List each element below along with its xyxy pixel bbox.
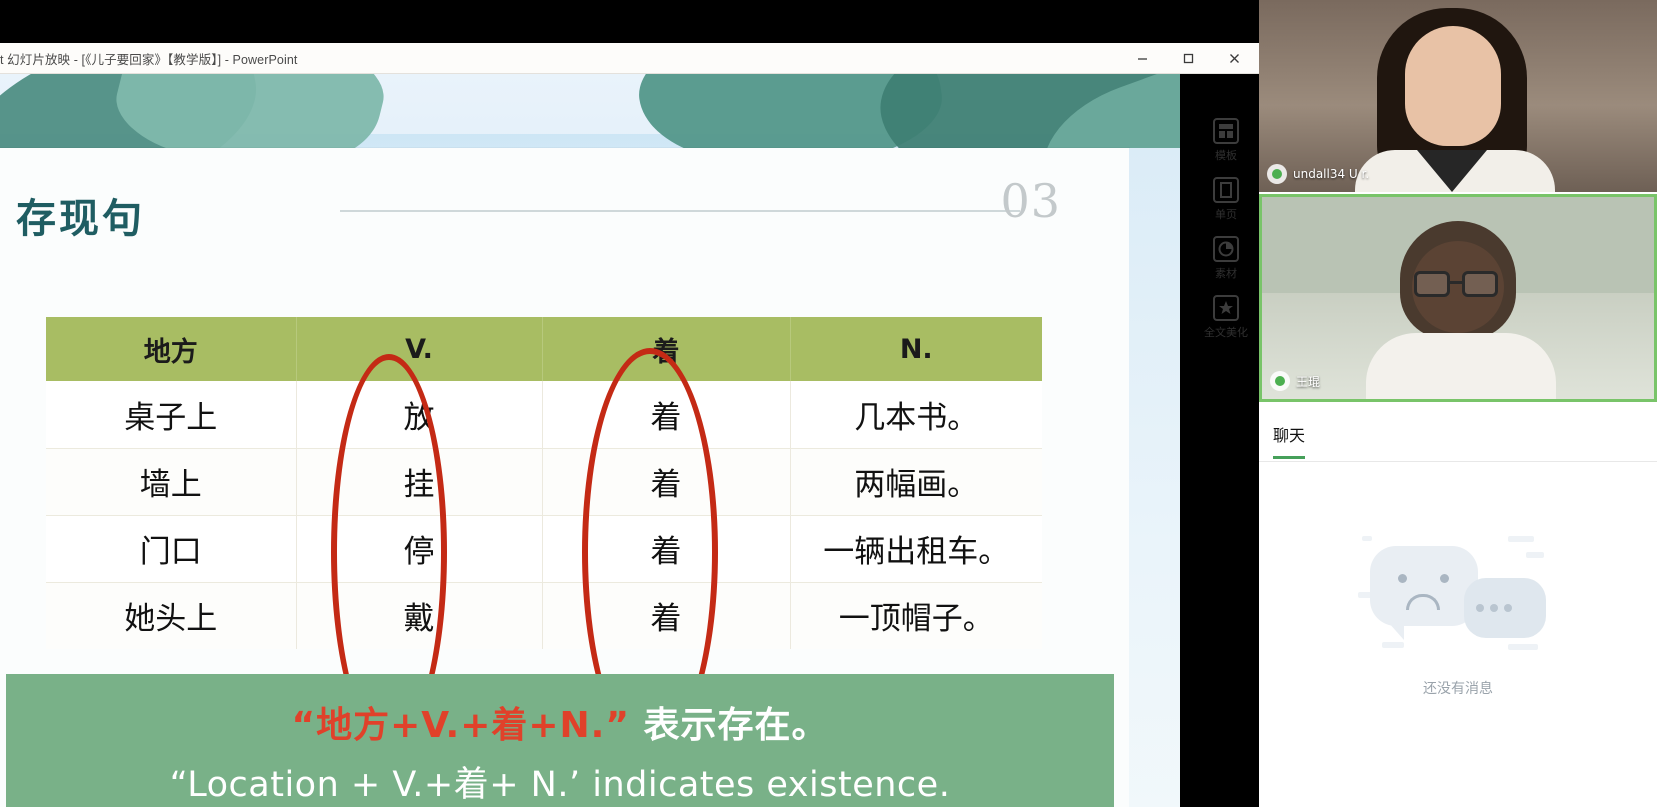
video-tile-teacher[interactable]: undall34 U r.: [1259, 0, 1657, 192]
summary-banner: “地方+V.+着+N.” 表示存在。 “Location + V.+着+ N.’…: [6, 674, 1114, 807]
meeting-sidebar: 模板 单页 素材 全文美化: [1259, 0, 1657, 807]
banner-line-chinese: “地方+V.+着+N.” 表示存在。: [291, 696, 828, 748]
table-cell: 一顶帽子。: [790, 582, 1042, 649]
powerpoint-window: t 幻灯片放映 - [《儿子要回家》【教学版】] - PowerPoint: [0, 0, 1259, 807]
table-row: 墙上 挂 着 两幅画。: [46, 448, 1042, 515]
table-cell: 两幅画。: [790, 448, 1042, 515]
tool-item-single-page[interactable]: 单页: [1200, 177, 1252, 222]
chat-empty-state: 还没有消息: [1259, 530, 1657, 698]
tab-chat[interactable]: 聊天: [1273, 422, 1305, 459]
slide-title: 存现句: [16, 186, 145, 244]
tool-item-beautify[interactable]: 全文美化: [1200, 295, 1252, 340]
window-title: t 幻灯片放映 - [《儿子要回家》【教学版】] - PowerPoint: [0, 49, 297, 68]
empty-chat-illustration-icon: [1358, 530, 1558, 660]
avatar-face: [1405, 26, 1501, 146]
beautify-icon: [1213, 295, 1239, 321]
avatar-glasses-bridge: [1450, 281, 1462, 284]
window-controls: [1119, 43, 1257, 74]
minimize-button[interactable]: [1119, 43, 1165, 73]
banner-explanation-white: 表示存在。: [630, 705, 829, 746]
avatar-glasses-left: [1414, 271, 1450, 297]
template-icon: [1213, 118, 1239, 144]
title-rule-divider: [340, 210, 1020, 212]
material-icon: [1213, 236, 1239, 262]
table-header-cell: V.: [296, 317, 542, 381]
participant-name: 王琨: [1296, 373, 1320, 390]
table-cell: 停: [296, 515, 542, 582]
tool-label: 素材: [1215, 265, 1237, 281]
slide-content-card: 存现句 03 地方 V. 着 N. 桌子: [0, 148, 1129, 807]
table-cell: 着: [542, 381, 790, 448]
chat-panel: 聊天: [1259, 410, 1657, 807]
table-cell: 几本书。: [790, 381, 1042, 448]
table-row: 她头上 戴 着 一顶帽子。: [46, 582, 1042, 649]
table-cell: 一辆出租车。: [790, 515, 1042, 582]
table-cell: 着: [542, 582, 790, 649]
chat-divider: [1259, 461, 1657, 462]
single-page-icon: [1213, 177, 1239, 203]
slide-section-number: 03: [1000, 174, 1061, 228]
maximize-button[interactable]: [1165, 43, 1211, 73]
table-header-cell: N.: [790, 317, 1042, 381]
tool-label: 单页: [1215, 206, 1237, 222]
table-row: 门口 停 着 一辆出租车。: [46, 515, 1042, 582]
table-header-cell: 地方: [46, 317, 296, 381]
table-cell: 她头上: [46, 582, 296, 649]
table-cell: 挂: [296, 448, 542, 515]
chat-tabs: 聊天: [1273, 422, 1305, 459]
chat-empty-message: 还没有消息: [1423, 678, 1493, 698]
slide-right-strip: [1129, 148, 1180, 807]
banner-formula-red: “地方+V.+着+N.”: [291, 705, 630, 746]
table-cell: 着: [542, 515, 790, 582]
tool-item-template[interactable]: 模板: [1200, 118, 1252, 163]
mic-on-icon: [1267, 164, 1287, 184]
banner-line-english: “Location + V.+着+ N.’ indicates existenc…: [170, 756, 951, 807]
avatar-body: [1366, 333, 1556, 402]
slide-stage: 存现句 03 地方 V. 着 N. 桌子: [0, 74, 1180, 807]
close-button[interactable]: [1211, 43, 1257, 73]
table-cell: 着: [542, 448, 790, 515]
avatar-glasses-right: [1462, 271, 1498, 297]
grammar-table: 地方 V. 着 N. 桌子上 放 着 几本书。: [46, 317, 1042, 649]
participant-name-badge: 王琨: [1270, 371, 1320, 391]
table-cell: 放: [296, 381, 542, 448]
tool-rail: 模板 单页 素材 全文美化: [1197, 118, 1255, 340]
table-cell: 桌子上: [46, 381, 296, 448]
table-row: 桌子上 放 着 几本书。: [46, 381, 1042, 448]
participant-name-badge: undall34 U r.: [1267, 164, 1369, 184]
window-titlebar: t 幻灯片放映 - [《儿子要回家》【教学版】] - PowerPoint: [0, 43, 1259, 74]
table-cell: 墙上: [46, 448, 296, 515]
participant-name: undall34 U r.: [1293, 167, 1369, 181]
table-header-row: 地方 V. 着 N.: [46, 317, 1042, 381]
video-tile-student[interactable]: 王琨: [1259, 194, 1657, 402]
mic-on-icon: [1270, 371, 1290, 391]
tool-label: 模板: [1215, 147, 1237, 163]
tool-label: 全文美化: [1204, 324, 1248, 340]
table-cell: 戴: [296, 582, 542, 649]
table-cell: 门口: [46, 515, 296, 582]
app-root: t 幻灯片放映 - [《儿子要回家》【教学版】] - PowerPoint: [0, 0, 1657, 807]
tool-item-material[interactable]: 素材: [1200, 236, 1252, 281]
table-header-cell: 着: [542, 317, 790, 381]
